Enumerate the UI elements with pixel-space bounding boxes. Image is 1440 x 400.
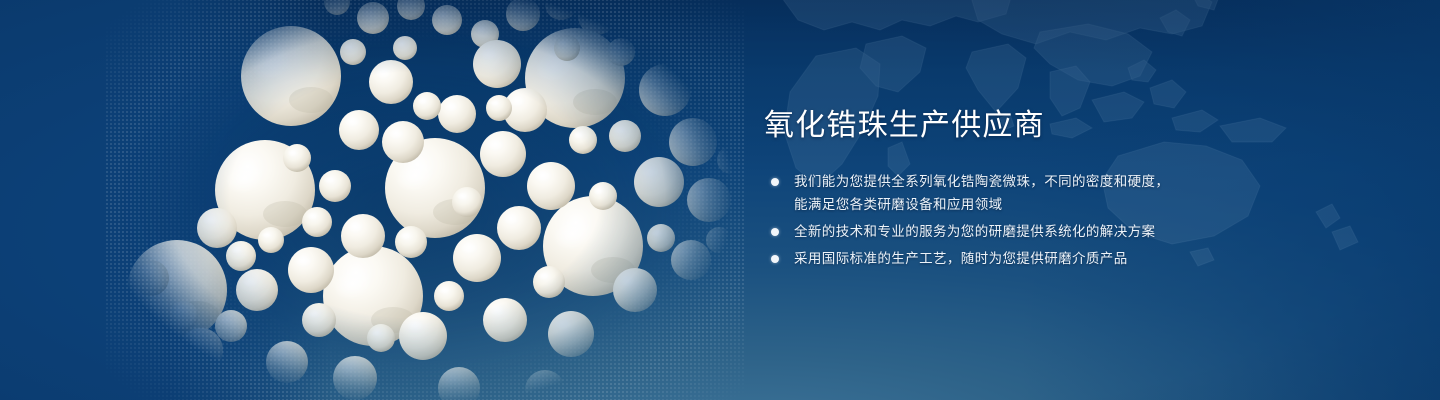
hero-banner: 氧化锆珠生产供应商 我们能为您提供全系列氧化锆陶瓷微珠，不同的密度和硬度， 能满… [0,0,1440,400]
bullet-line: 全新的技术和专业的服务为您的研磨提供系统化的解决方案 [794,220,1384,243]
bullet-dot-icon [771,228,779,236]
bullet-line: 我们能为您提供全系列氧化锆陶瓷微珠，不同的密度和硬度， [794,170,1384,193]
list-item: 全新的技术和专业的服务为您的研磨提供系统化的解决方案 [764,220,1384,243]
bullet-line: 采用国际标准的生产工艺，随时为您提供研磨介质产品 [794,247,1384,270]
banner-bullet-list: 我们能为您提供全系列氧化锆陶瓷微珠，不同的密度和硬度， 能满足您各类研磨设备和应… [764,170,1384,270]
list-item: 采用国际标准的生产工艺，随时为您提供研磨介质产品 [764,247,1384,270]
list-item: 我们能为您提供全系列氧化锆陶瓷微珠，不同的密度和硬度， 能满足您各类研磨设备和应… [764,170,1384,216]
bullet-dot-icon [771,255,779,263]
bullet-dot-icon [771,178,779,186]
banner-copy: 氧化锆珠生产供应商 我们能为您提供全系列氧化锆陶瓷微珠，不同的密度和硬度， 能满… [764,108,1384,270]
banner-headline: 氧化锆珠生产供应商 [764,108,1384,144]
bullet-line: 能满足您各类研磨设备和应用领域 [794,193,1384,216]
